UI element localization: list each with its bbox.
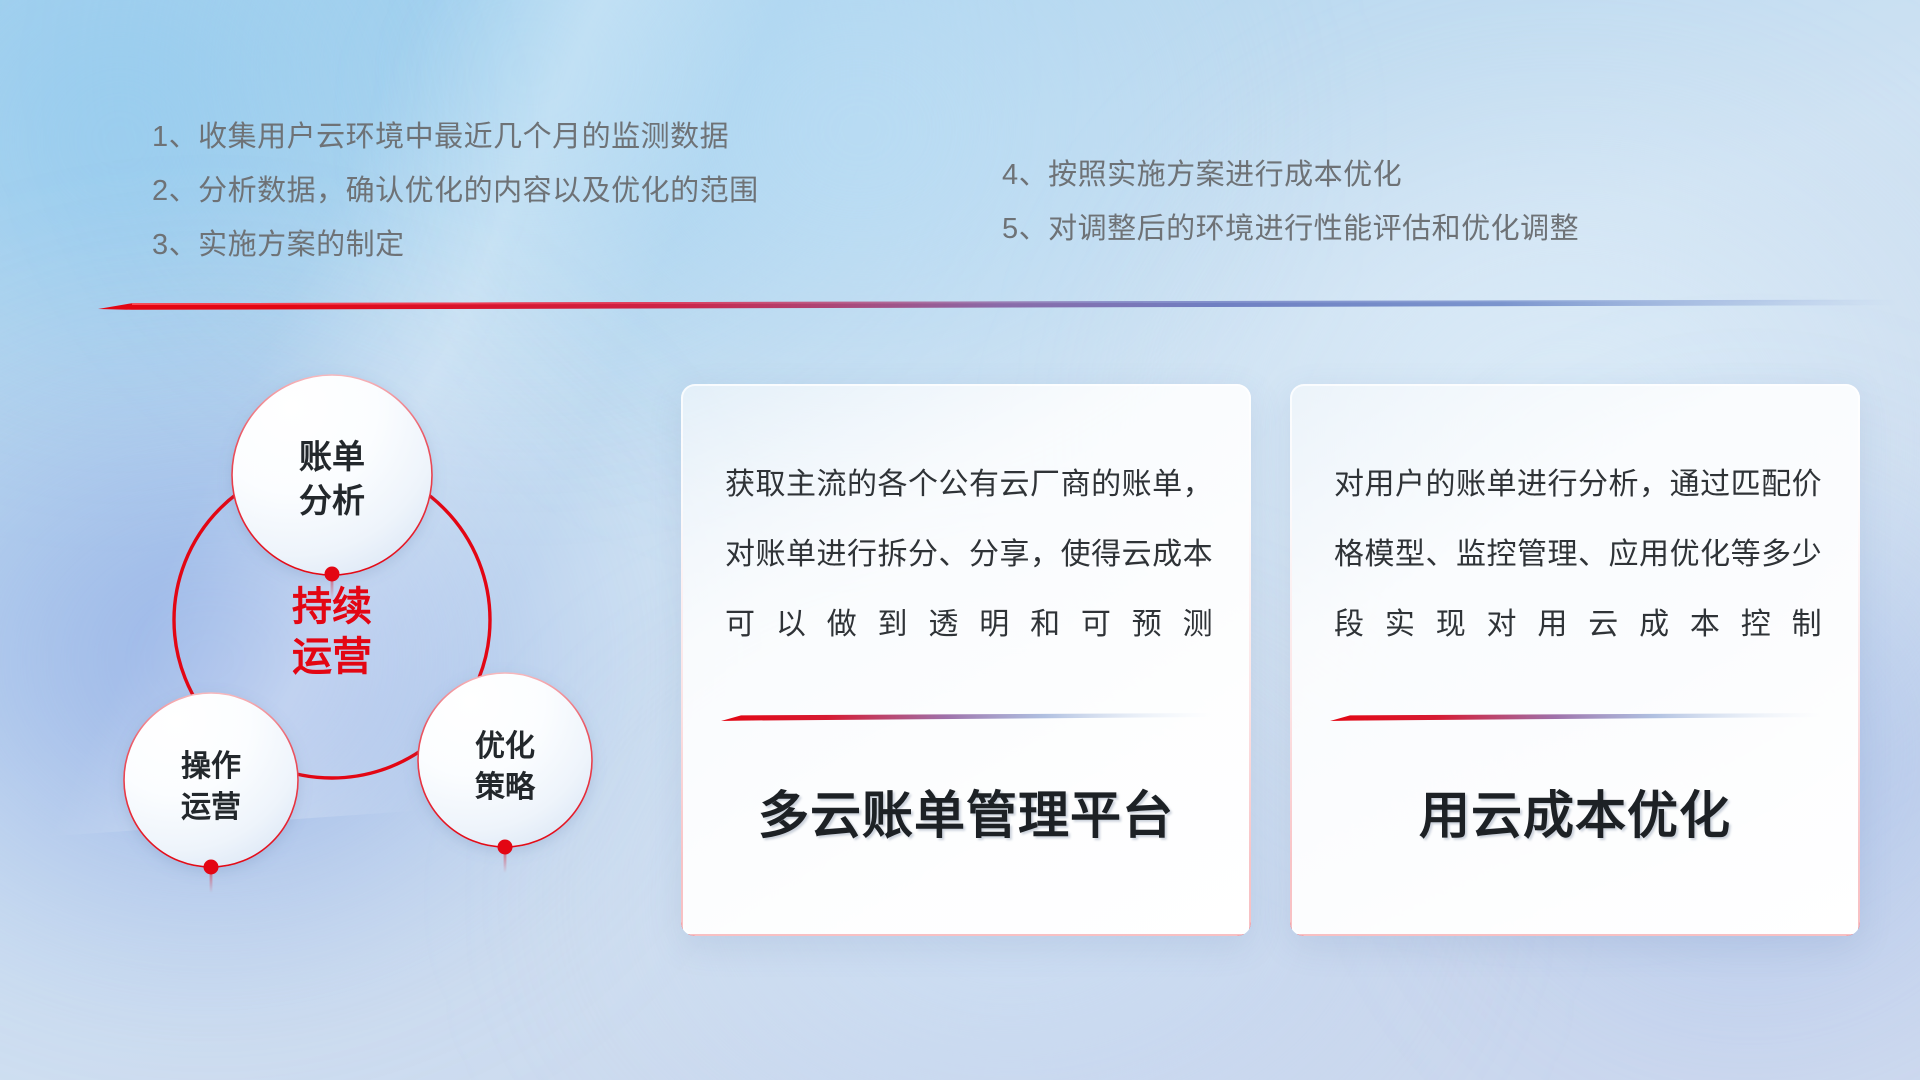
section-divider — [98, 296, 1898, 314]
step-item-1: 1、收集用户云环境中最近几个月的监测数据 — [152, 110, 759, 164]
venn-node-top-line1: 账单 — [299, 438, 365, 475]
card-accent-rule — [1330, 710, 1820, 724]
step-item-2: 2、分析数据，确认优化的内容以及优化的范围 — [152, 164, 759, 218]
venn-node-left[interactable]: 操作 运营 — [124, 693, 298, 867]
steps-right-column: 4、按照实施方案进行成本优化 5、对调整后的环境进行性能评估和优化调整 — [1002, 148, 1579, 256]
card-accent-shape — [1330, 710, 1820, 724]
venn-center-line1: 持续 — [292, 585, 372, 629]
feature-card-cloud-cost-optimization[interactable]: 对用户的账单进行分析，通过匹配价格模型、监控管理、应用优化等多少段实现对用云成本… — [1290, 384, 1860, 936]
step-item-5: 5、对调整后的环境进行性能评估和优化调整 — [1002, 202, 1579, 256]
venn-node-top[interactable]: 账单 分析 — [232, 375, 432, 575]
venn-node-right[interactable]: 优化 策略 — [418, 673, 592, 847]
divider-shape — [98, 296, 1898, 314]
card-title: 多云账单管理平台 — [681, 774, 1251, 848]
feature-card-multicloud-billing[interactable]: 获取主流的各个公有云厂商的账单，对账单进行拆分、分享，使得云成本可以做到透明和可… — [681, 384, 1251, 936]
step-item-3: 3、实施方案的制定 — [152, 218, 759, 272]
venn-marker-left — [204, 860, 219, 894]
venn-center-label: 持续 运营 — [292, 585, 372, 679]
venn-node-right-line2: 策略 — [475, 770, 536, 804]
steps-left-column: 1、收集用户云环境中最近几个月的监测数据 2、分析数据，确认优化的内容以及优化的… — [152, 110, 759, 272]
continuous-operation-diagram: 账单 分析 操作 运营 优化 策略 持续 — [88, 340, 648, 940]
venn-node-right-line1: 优化 — [475, 730, 535, 763]
venn-node-left-line1: 操作 — [181, 750, 241, 783]
venn-marker-right — [498, 840, 513, 874]
card-description: 对用户的账单进行分析，通过匹配价格模型、监控管理、应用优化等多少段实现对用云成本… — [1334, 450, 1822, 660]
card-accent-rule — [721, 710, 1211, 724]
card-description: 获取主流的各个公有云厂商的账单，对账单进行拆分、分享，使得云成本可以做到透明和可… — [725, 450, 1213, 660]
venn-node-left-line2: 运营 — [181, 791, 241, 824]
process-steps: 1、收集用户云环境中最近几个月的监测数据 2、分析数据，确认优化的内容以及优化的… — [0, 0, 1920, 300]
venn-svg: 账单 分析 操作 运营 优化 策略 持续 — [88, 340, 648, 940]
card-accent-shape — [721, 710, 1211, 724]
venn-node-top-line2: 分析 — [299, 482, 365, 519]
venn-center-line2: 运营 — [292, 635, 372, 679]
card-title: 用云成本优化 — [1290, 774, 1860, 848]
step-item-4: 4、按照实施方案进行成本优化 — [1002, 148, 1579, 202]
